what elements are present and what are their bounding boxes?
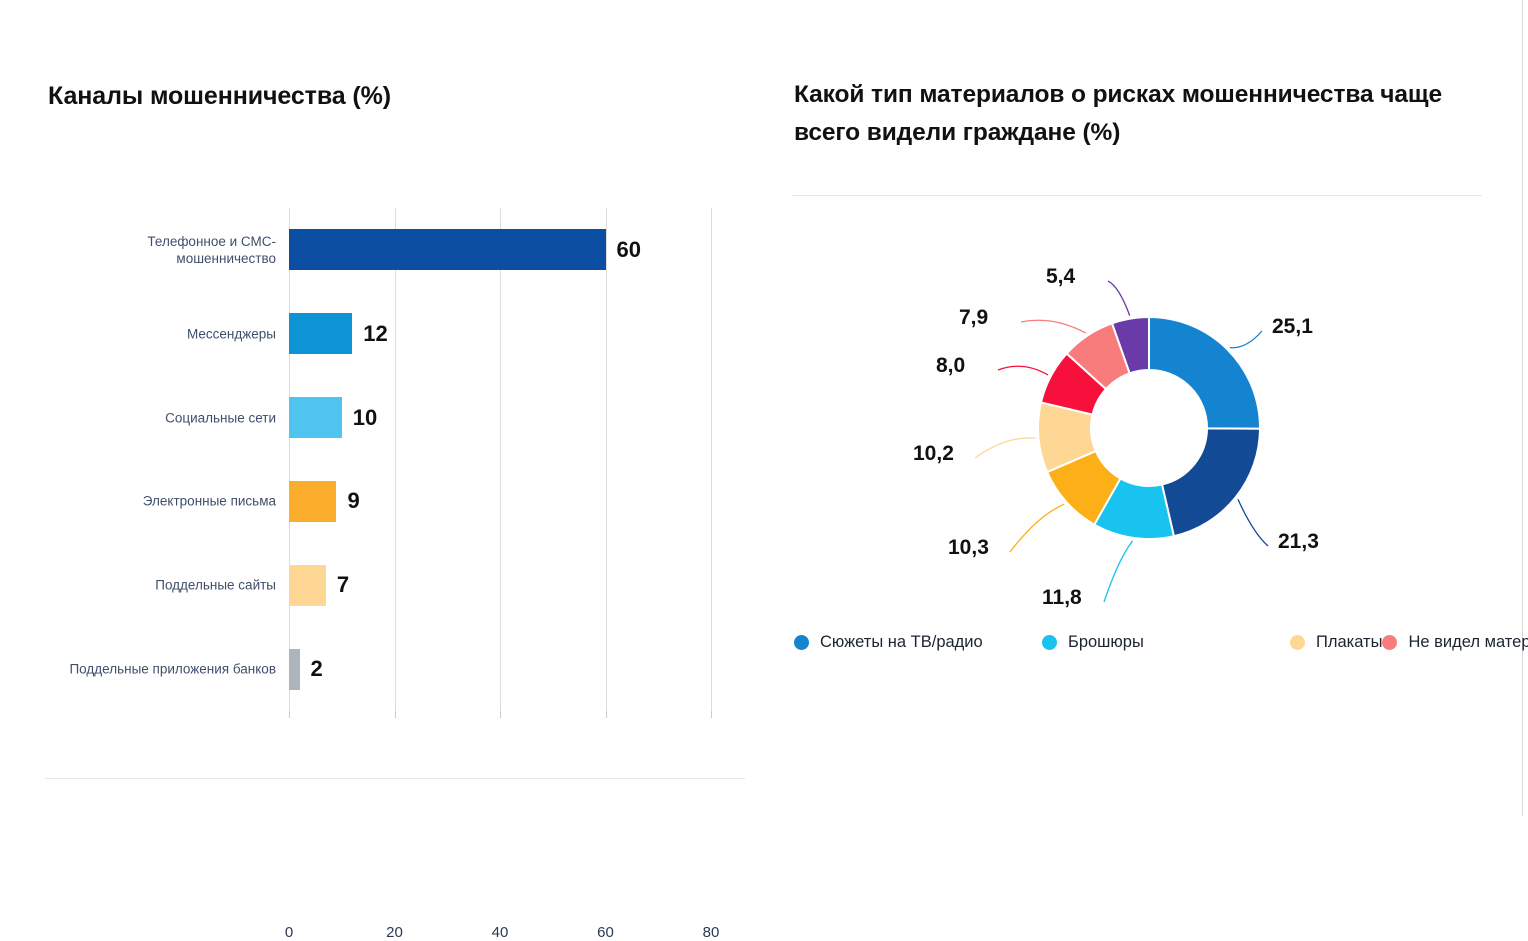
donut-value-label: 10,2	[913, 442, 954, 466]
x-axis-label: 40	[492, 924, 509, 941]
donut-value-label: 21,3	[1278, 530, 1319, 554]
legend-item[interactable]: Сюжеты на ТВ/радио	[794, 628, 1042, 657]
bar-rect[interactable]	[289, 481, 336, 522]
donut-value-label: 25,1	[1272, 315, 1313, 339]
donut-leader-line	[998, 366, 1048, 375]
x-axis-tick	[500, 711, 501, 718]
donut-value-label: 7,9	[959, 306, 988, 330]
bar-rect[interactable]	[289, 229, 606, 270]
gridline	[500, 208, 501, 711]
bar-row[interactable]: Социальные сети10	[289, 397, 711, 438]
legend-item[interactable]: Не видел материалов	[1382, 628, 1528, 657]
x-axis-tick	[289, 711, 290, 718]
slide-root: Каналы мошенничества (%) 020406080Телефо…	[0, 0, 1523, 816]
bar-chart-fraud-channels: 020406080Телефонное и СМС- мошенничество…	[0, 0, 780, 780]
legend-label: Брошюры	[1068, 633, 1144, 652]
bar-row[interactable]: Поддельные сайты7	[289, 565, 711, 606]
donut-chart-awareness-materials: 25,121,311,810,310,28,07,95,4	[780, 205, 1523, 625]
gridline	[711, 208, 712, 711]
bar-category-label: Поддельные сайты	[0, 577, 276, 594]
donut-leader-line	[1230, 331, 1262, 348]
gridline	[289, 208, 290, 711]
donut-leader-line	[1021, 320, 1086, 333]
legend-color-dot-icon	[1382, 635, 1397, 650]
bar-value-label: 12	[363, 321, 387, 347]
x-axis-tick	[606, 711, 607, 718]
donut-segment[interactable]	[1149, 317, 1260, 429]
bar-row[interactable]: Поддельные приложения банков2	[289, 649, 711, 690]
bar-rect[interactable]	[289, 313, 352, 354]
divider-right-top	[792, 195, 1482, 196]
donut-value-label: 8,0	[936, 354, 965, 378]
bar-category-label: Поддельные приложения банков	[0, 661, 276, 678]
chart-legend: Сюжеты на ТВ/радиоБрошюрыПлакатыНе видел…	[794, 628, 1494, 657]
legend-color-dot-icon	[1290, 635, 1305, 650]
donut-leader-line	[975, 438, 1035, 458]
donut-leader-line	[1108, 281, 1130, 316]
donut-segment[interactable]	[1162, 428, 1260, 536]
legend-item[interactable]: Брошюры	[1042, 628, 1290, 657]
bar-plot-area: 020406080Телефонное и СМС- мошенничество…	[289, 208, 711, 711]
bar-value-label: 60	[617, 237, 641, 263]
legend-label: Плакаты	[1316, 633, 1382, 652]
bar-value-label: 10	[353, 405, 377, 431]
bar-category-label: Телефонное и СМС- мошенничество	[0, 233, 276, 267]
legend-color-dot-icon	[1042, 635, 1057, 650]
donut-leader-line	[1104, 541, 1133, 602]
bar-rect[interactable]	[289, 397, 342, 438]
legend-label: Не видел материалов	[1408, 633, 1528, 652]
bar-rect[interactable]	[289, 649, 300, 690]
x-axis-label: 60	[597, 924, 614, 941]
bar-row[interactable]: Электронные письма9	[289, 481, 711, 522]
panel-fraud-channels: Каналы мошенничества (%) 020406080Телефо…	[0, 0, 780, 816]
x-axis-tick	[395, 711, 396, 718]
donut-value-label: 5,4	[1046, 265, 1075, 289]
gridline	[606, 208, 607, 711]
donut-svg	[780, 205, 1523, 625]
legend-color-dot-icon	[794, 635, 809, 650]
donut-value-label: 11,8	[1042, 586, 1082, 610]
legend-item[interactable]: Плакаты	[1290, 628, 1382, 657]
donut-leader-line	[1238, 499, 1268, 546]
donut-value-label: 10,3	[948, 536, 989, 560]
x-axis-label: 0	[285, 924, 293, 941]
divider-left-bottom	[45, 778, 745, 779]
bar-row[interactable]: Телефонное и СМС- мошенничество60	[289, 229, 711, 270]
gridline	[395, 208, 396, 711]
x-axis-label: 20	[386, 924, 403, 941]
bar-category-label: Электронные письма	[0, 493, 276, 510]
page-title-right: Какой тип материалов о рисках мошенничес…	[794, 76, 1484, 152]
panel-awareness-materials: Какой тип материалов о рисках мошенничес…	[780, 0, 1523, 816]
bar-value-label: 7	[337, 572, 349, 598]
donut-leader-line	[1010, 504, 1064, 552]
x-axis-tick	[711, 711, 712, 718]
bar-row[interactable]: Мессенджеры12	[289, 313, 711, 354]
bar-value-label: 9	[347, 488, 359, 514]
x-axis-label: 80	[703, 924, 720, 941]
legend-label: Сюжеты на ТВ/радио	[820, 633, 983, 652]
bar-rect[interactable]	[289, 565, 326, 606]
bar-value-label: 2	[311, 656, 323, 682]
bar-category-label: Мессенджеры	[0, 325, 276, 342]
bar-category-label: Социальные сети	[0, 409, 276, 426]
